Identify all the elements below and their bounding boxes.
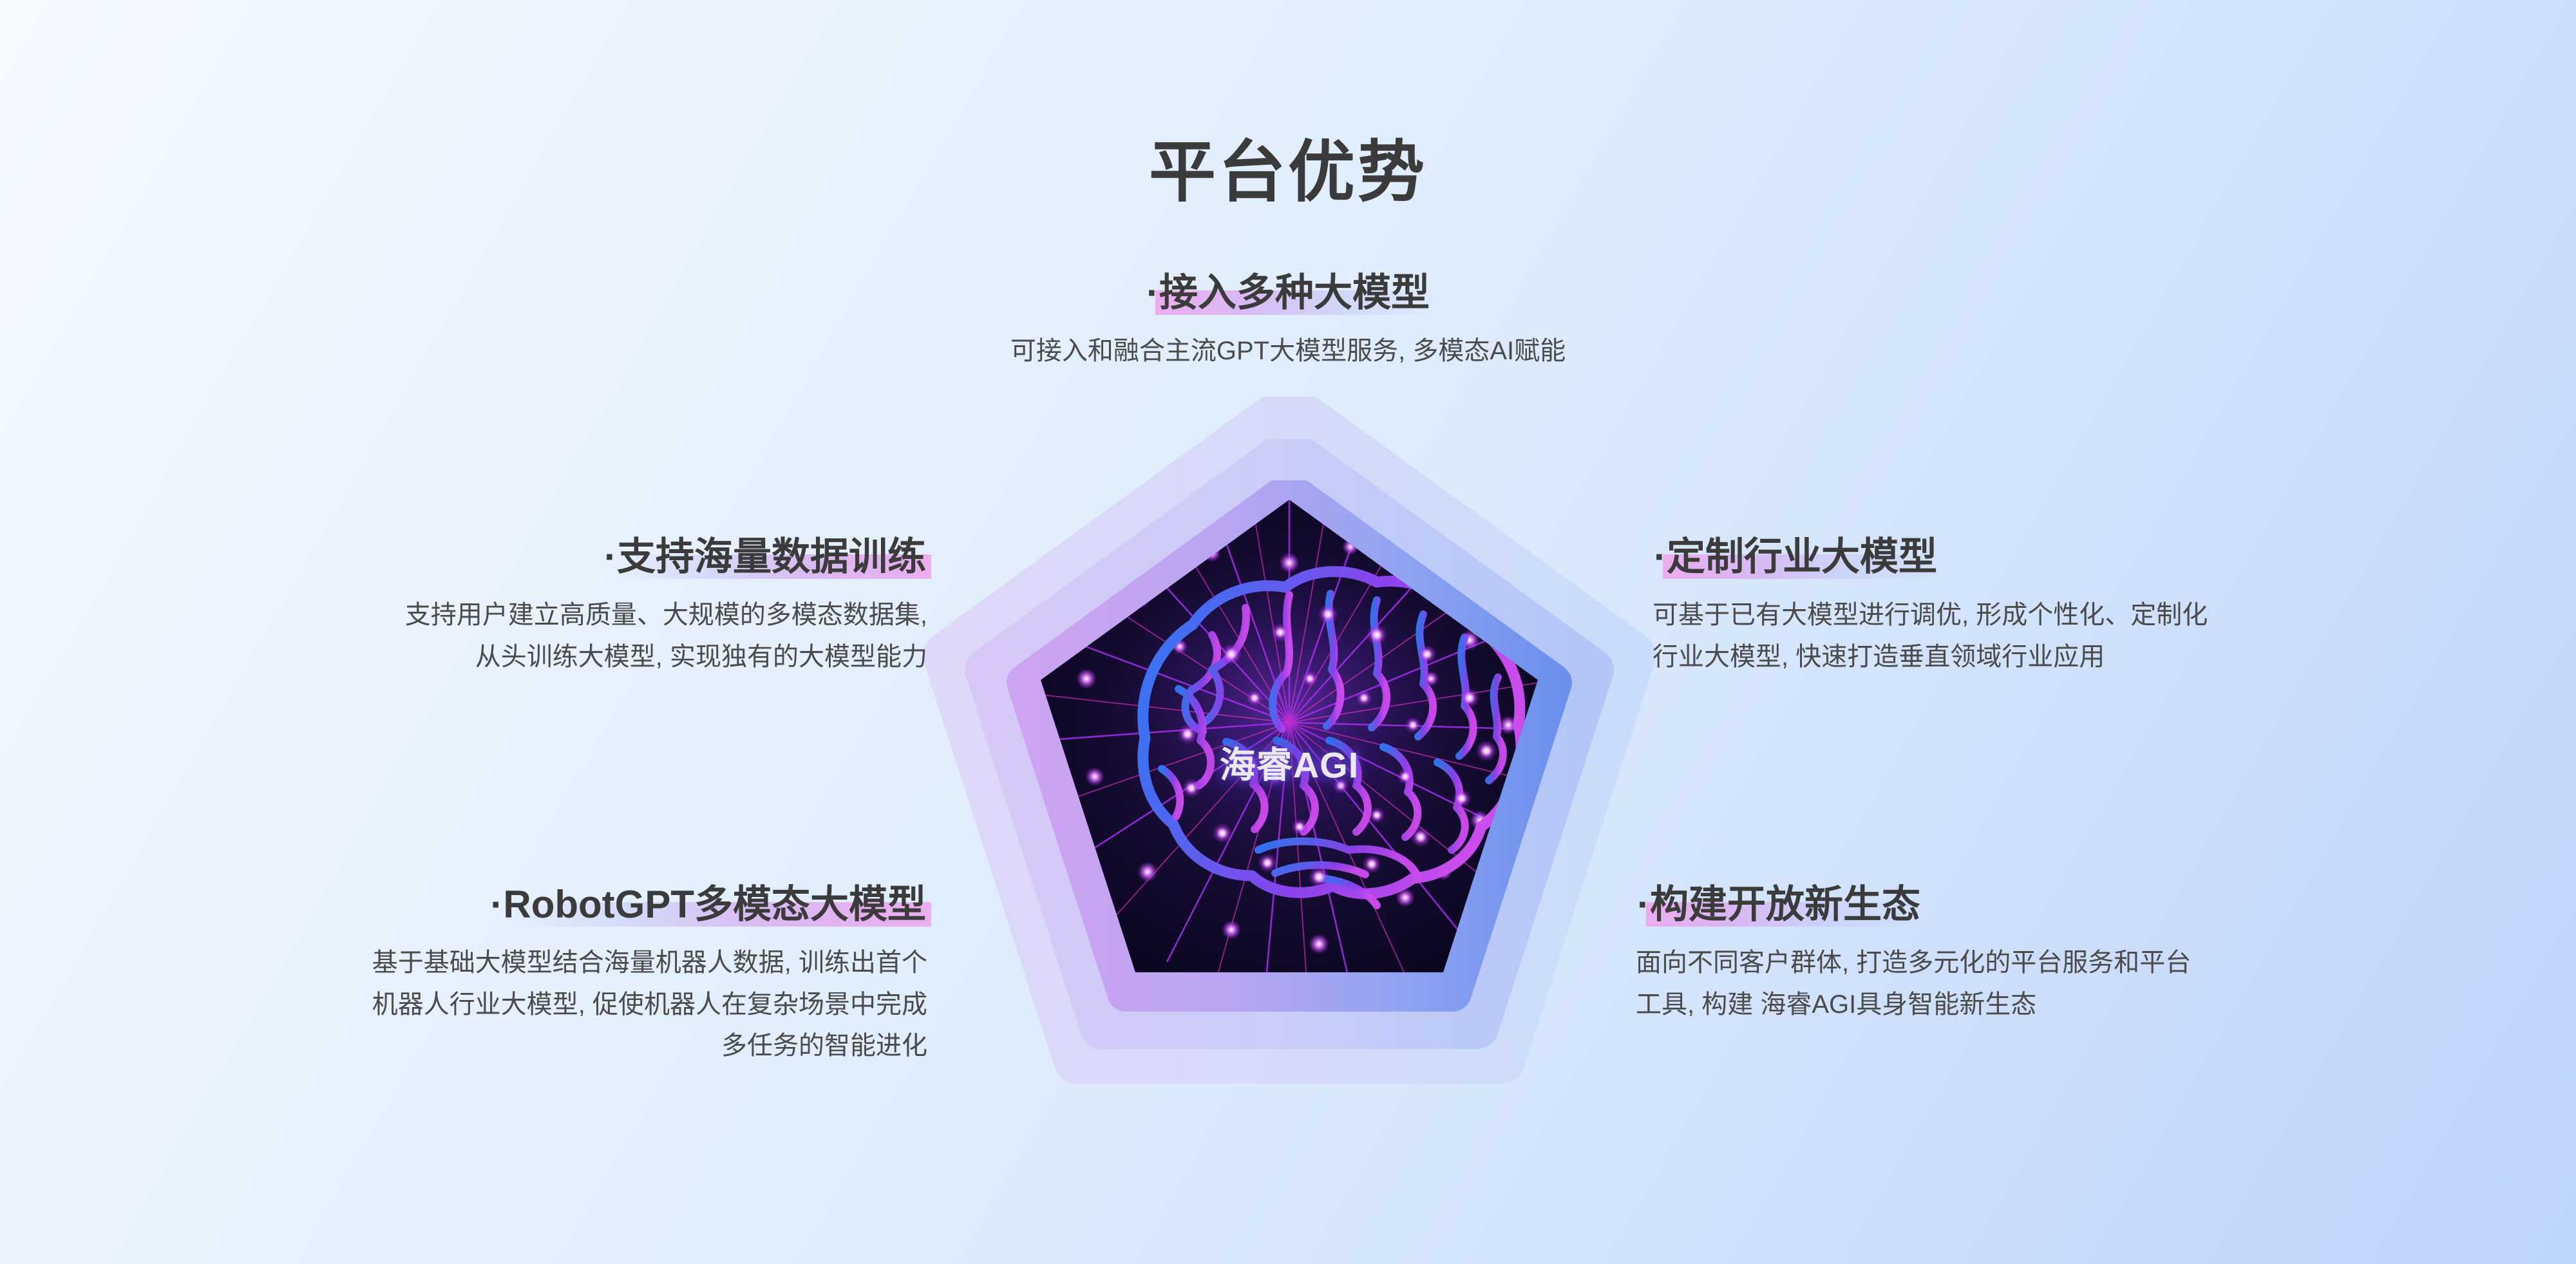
feature-right-2-heading: ·构建开放新生态 [1636, 882, 1922, 928]
body-line: 从头训练大模型, 实现独有的大模型能力 [116, 636, 927, 678]
bullet-dot: · [604, 535, 617, 578]
feature-right-1-heading: ·定制行业大模型 [1653, 534, 1938, 580]
body-line: 支持用户建立高质量、大规模的多模态数据集, [116, 594, 927, 636]
feature-top: ·接入多种大模型 可接入和融合主流GPT大模型服务, 多模态AI赋能 [708, 270, 1868, 372]
body-line: 面向不同客户群体, 打造多元化的平台服务和平台 [1636, 942, 2473, 984]
feature-left-2-body: 基于基础大模型结合海量机器人数据, 训练出首个 机器人行业大模型, 促使机器人在… [116, 942, 927, 1067]
feature-top-heading: ·接入多种大模型 [1145, 270, 1431, 316]
feature-left-1-heading-text: 支持海量数据训练 [617, 535, 926, 578]
feature-top-heading-text: 接入多种大模型 [1159, 271, 1430, 314]
feature-left-2: ·RobotGPT多模态大模型 基于基础大模型结合海量机器人数据, 训练出首个 … [116, 882, 927, 1067]
feature-left-2-heading-text: RobotGPT多模态大模型 [503, 883, 926, 926]
bullet-dot: · [1654, 535, 1667, 578]
feature-right-2-body: 面向不同客户群体, 打造多元化的平台服务和平台 工具, 构建 海睿AGI具身智能… [1636, 942, 2473, 1026]
feature-top-body: 可接入和融合主流GPT大模型服务, 多模态AI赋能 [708, 330, 1868, 372]
body-line: 机器人行业大模型, 促使机器人在复杂场景中完成 [116, 984, 927, 1026]
feature-left-2-heading: ·RobotGPT多模态大模型 [489, 882, 927, 928]
body-line: 多任务的智能进化 [116, 1025, 927, 1067]
feature-left-1-heading: ·支持海量数据训练 [603, 534, 927, 580]
feature-right-2-heading-text: 构建开放新生态 [1650, 883, 1920, 926]
body-line: 可接入和融合主流GPT大模型服务, 多模态AI赋能 [708, 330, 1868, 372]
feature-right-2: ·构建开放新生态 面向不同客户群体, 打造多元化的平台服务和平台 工具, 构建 … [1636, 882, 2473, 1025]
body-line: 基于基础大模型结合海量机器人数据, 训练出首个 [116, 942, 927, 984]
bullet-dot: · [1637, 883, 1650, 926]
central-pentagon-graphic: 海睿AGI [922, 397, 1656, 1096]
feature-left-1-body: 支持用户建立高质量、大规模的多模态数据集, 从头训练大模型, 实现独有的大模型能… [116, 594, 927, 678]
bullet-dot: · [1146, 271, 1159, 314]
feature-right-1-body: 可基于已有大模型进行调优, 形成个性化、定制化 行业大模型, 快速打造垂直领域行… [1653, 594, 2477, 678]
bullet-dot: · [490, 883, 503, 926]
feature-left-1: ·支持海量数据训练 支持用户建立高质量、大规模的多模态数据集, 从头训练大模型,… [116, 534, 927, 677]
feature-right-1-heading-text: 定制行业大模型 [1667, 535, 1937, 578]
body-line: 行业大模型, 快速打造垂直领域行业应用 [1653, 636, 2477, 678]
infographic-canvas: 平台优势 [0, 0, 2576, 1264]
page-title: 平台优势 [0, 117, 2576, 214]
brain-core: 海睿AGI [1019, 486, 1560, 1001]
body-line: 工具, 构建 海睿AGI具身智能新生态 [1636, 984, 2473, 1026]
body-line: 可基于已有大模型进行调优, 形成个性化、定制化 [1653, 594, 2477, 636]
feature-right-1: ·定制行业大模型 可基于已有大模型进行调优, 形成个性化、定制化 行业大模型, … [1653, 534, 2477, 677]
